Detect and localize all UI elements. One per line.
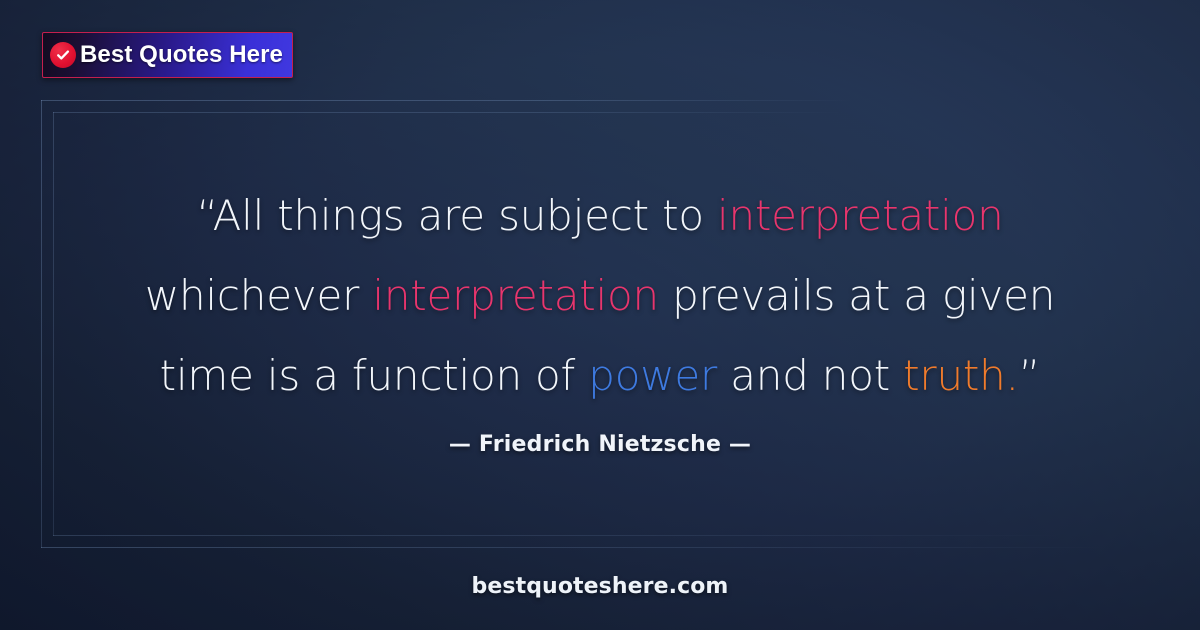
frame-inner-bottom-line xyxy=(53,535,1063,536)
brand-badge[interactable]: Best Quotes Here xyxy=(42,32,293,78)
quote-text: “All things are subject to interpretatio… xyxy=(66,176,1134,416)
quote-line-1: “All things are subject to interpretatio… xyxy=(66,176,1134,256)
frame-outer-bottom-line xyxy=(41,547,1106,548)
quote-line-3-plain-b: and not xyxy=(717,351,903,400)
quote-line-2-plain-b: prevails at a given xyxy=(659,271,1055,320)
quote-highlight-interpretation-2: interpretation xyxy=(372,271,659,320)
quote-line-2: whichever interpretation prevails at a g… xyxy=(66,256,1134,336)
quote-line-3: time is a function of power and not trut… xyxy=(66,336,1134,416)
quote-author: — Friedrich Nietzsche — xyxy=(0,432,1200,457)
quote-card: Best Quotes Here “All things are subject… xyxy=(0,0,1200,630)
quote-line-3-plain-a: time is a function of xyxy=(160,351,589,400)
site-footer-url: bestquoteshere.com xyxy=(0,574,1200,599)
quote-line-1-plain-a: “All things are subject to xyxy=(196,191,717,240)
quote-line-2-plain-a: whichever xyxy=(145,271,373,320)
brand-name-label: Best Quotes Here xyxy=(80,41,283,69)
frame-inner-top-line xyxy=(53,112,843,113)
quote-highlight-power: power xyxy=(588,351,717,400)
quote-highlight-truth: truth. xyxy=(903,351,1019,400)
quote-block: “All things are subject to interpretatio… xyxy=(0,176,1200,416)
quote-highlight-interpretation-1: interpretation xyxy=(717,191,1004,240)
frame-outer-top-line xyxy=(41,100,853,101)
check-circle-icon xyxy=(50,42,76,68)
quote-closing-mark: ” xyxy=(1019,351,1041,400)
